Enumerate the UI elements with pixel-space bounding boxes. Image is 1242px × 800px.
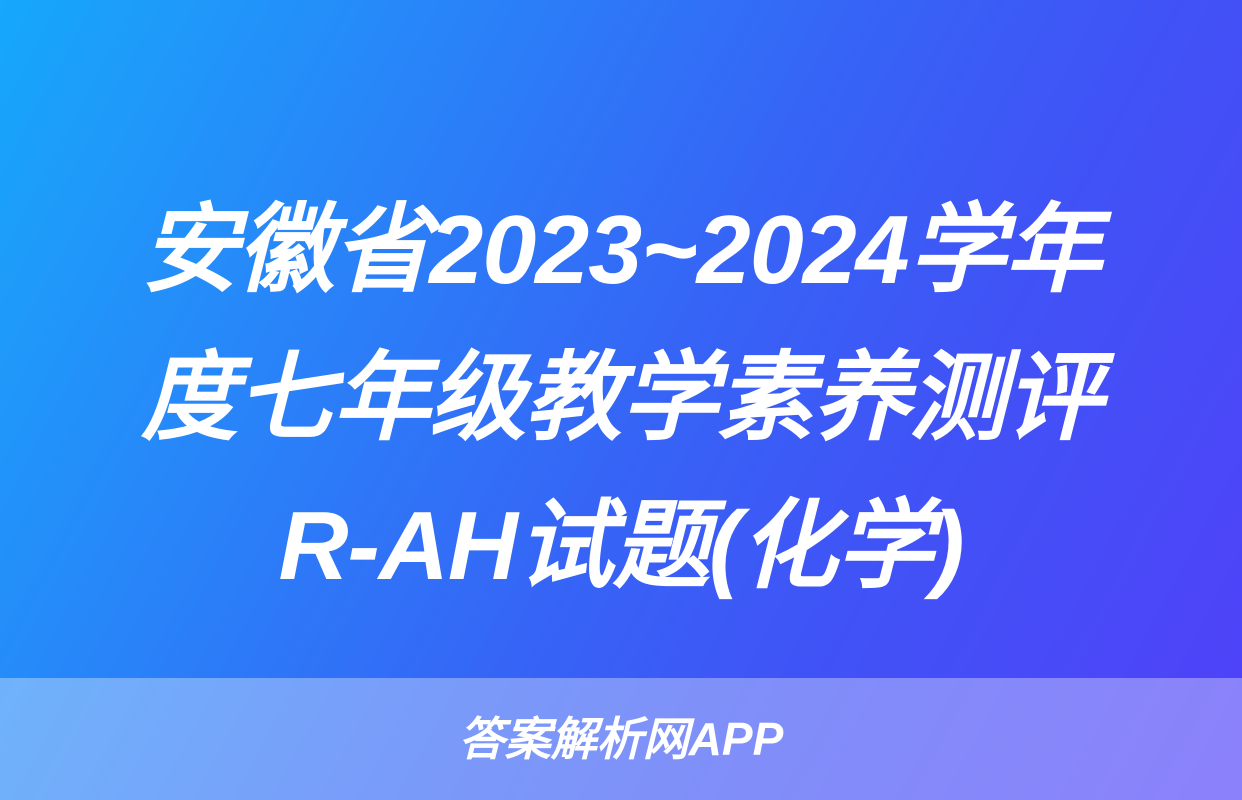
app-watermark-label: 答案解析网APP (459, 713, 784, 765)
title-line-3: R-AH试题(化学) (70, 472, 1172, 620)
title-line-1: 安徽省2023~2024学年 (70, 176, 1172, 324)
footer-banner: 答案解析网APP (0, 678, 1242, 800)
poster-title: 安徽省2023~2024学年 度七年级教学素养测评 R-AH试题(化学) (0, 176, 1242, 620)
title-line-2: 度七年级教学素养测评 (70, 324, 1172, 472)
poster-canvas: 安徽省2023~2024学年 度七年级教学素养测评 R-AH试题(化学) 答案解… (0, 0, 1242, 800)
